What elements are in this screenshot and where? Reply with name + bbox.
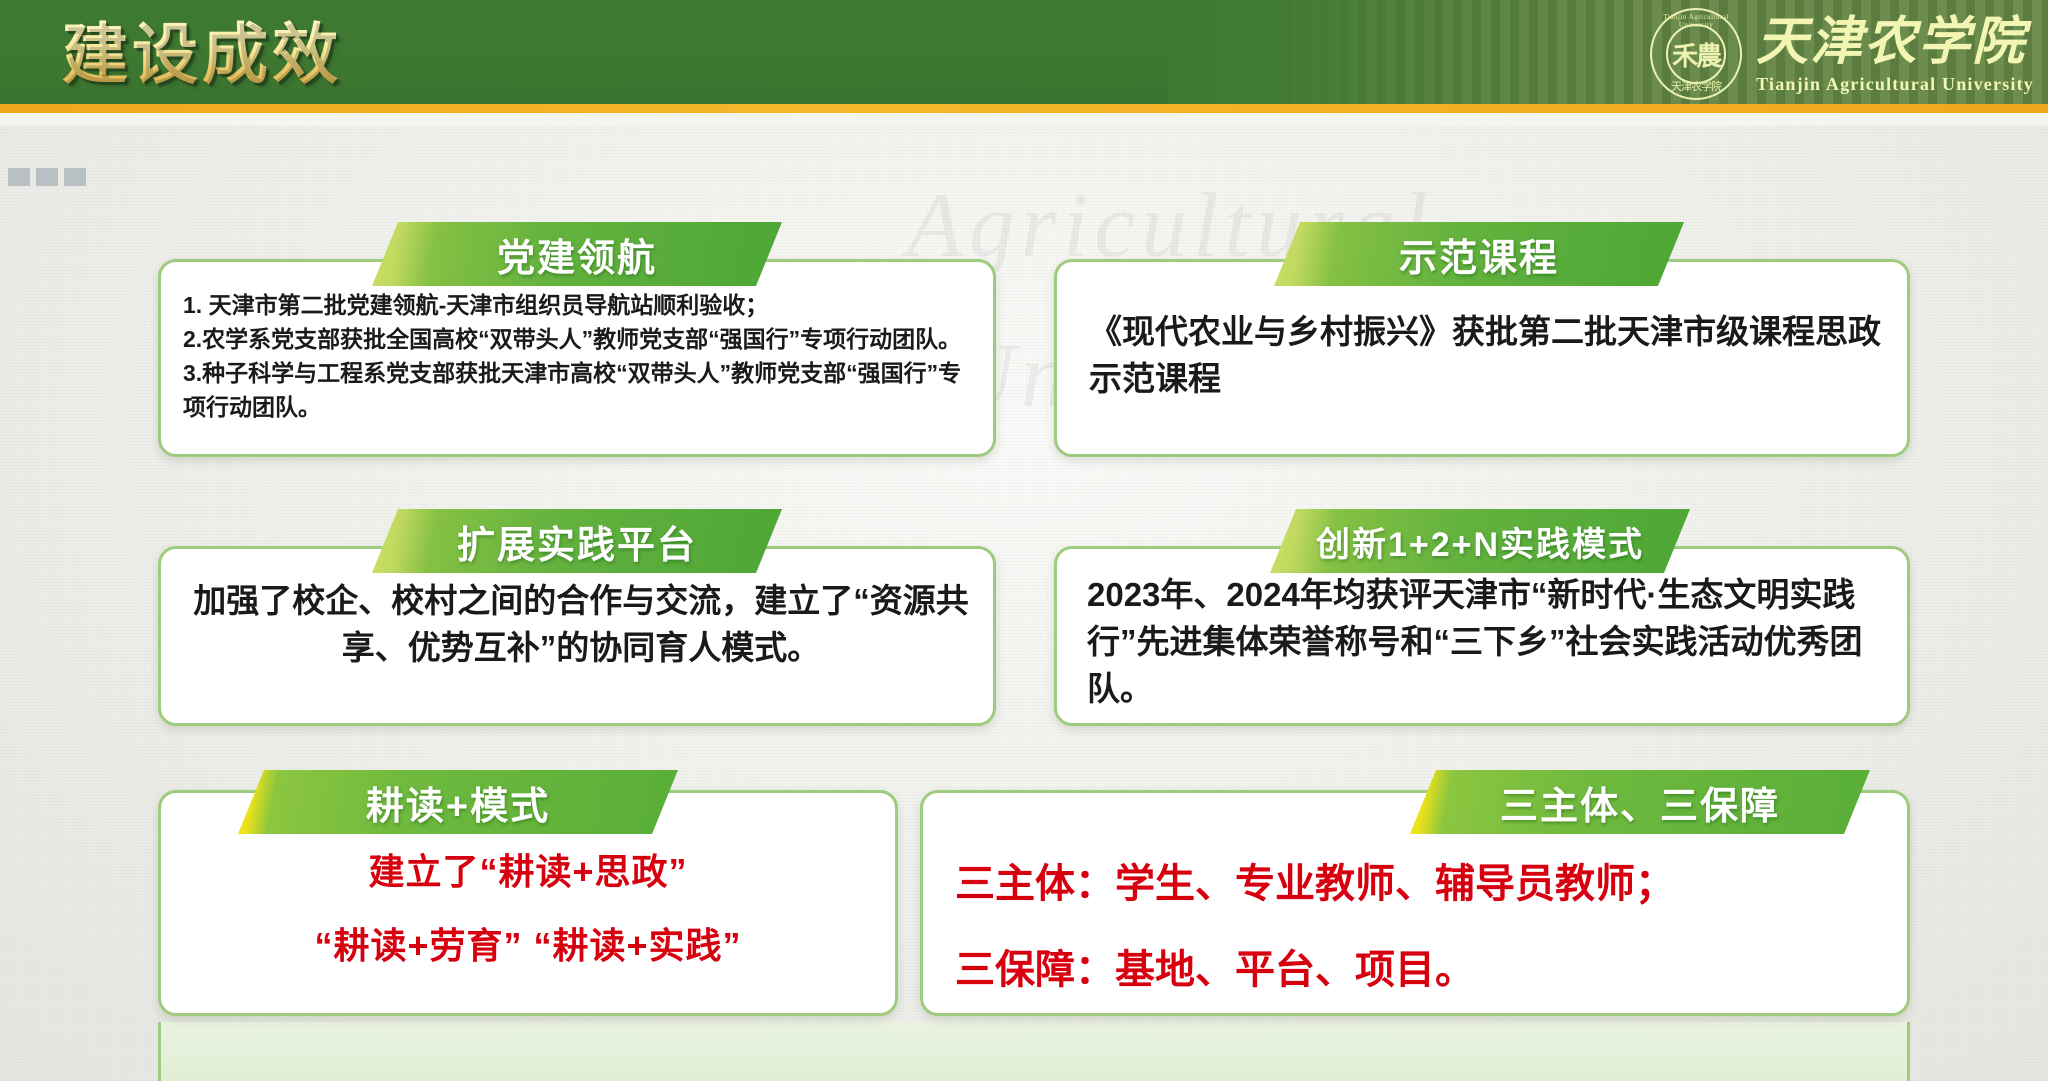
university-logo: Tianjin Agricultural University 禾農 天津农学院… <box>1650 6 2034 102</box>
seal-bottom-text: 天津农学院 <box>1652 78 1740 94</box>
ribbon-practice-platform: 扩展实践平台 <box>372 509 782 573</box>
card1-line-1: 1. 天津市第二批党建领航-天津市组织员导航站顺利验收； <box>183 288 979 322</box>
ribbon-three-subjects: 三主体、三保障 <box>1410 770 1870 834</box>
header-under-band <box>0 113 2048 126</box>
card3-body: 加强了校企、校村之间的合作与交流，建立了“资源共享、优势互补”的协同育人模式。 <box>191 577 971 671</box>
decorative-squares <box>8 168 86 186</box>
ribbon-demo-course: 示范课程 <box>1274 222 1684 286</box>
header-accent-bar <box>0 104 2048 113</box>
ribbon-innovation-model: 创新1+2+N实践模式 <box>1270 509 1690 573</box>
card2-body: 《现代农业与乡村振兴》获批第二批天津市级课程思政示范课程 <box>1089 308 1883 402</box>
card1-line-2: 2.农学系党支部获批全国高校“双带头人”教师党支部“强国行”专项行动团队。 <box>183 322 979 356</box>
card5-body: 建立了“耕读+思政” “耕读+劳育” “耕读+实践” <box>175 835 881 983</box>
card-innovation-model: 2023年、2024年均获评天津市“新时代·生态文明实践行”先进集体荣誉称号和“… <box>1054 546 1910 726</box>
card1-line-3: 3.种子科学与工程系党支部获批天津市高校“双带头人”教师党支部“强国行”专项行动… <box>183 356 979 424</box>
card3-line-1: 加强了校企、校村之间的合作与交流，建立了“资源共享、优势互补”的协同育人模式。 <box>191 577 971 671</box>
logo-name-cn: 天津农学院 <box>1756 14 2034 72</box>
card6-body: 三主体：学生、专业教师、辅导员教师； 三保障：基地、平台、项目。 <box>955 841 1887 1013</box>
card4-body: 2023年、2024年均获评天津市“新时代·生态文明实践行”先进集体荣誉称号和“… <box>1087 571 1885 712</box>
slide-root: 建设成效 Tianjin Agricultural University 禾農 … <box>0 0 2048 1081</box>
bottom-panel <box>158 1022 1910 1081</box>
card2-line-1: 《现代农业与乡村振兴》获批第二批天津市级课程思政示范课程 <box>1089 308 1883 402</box>
square-1 <box>8 168 30 186</box>
ribbon-gengdu-model: 耕读+模式 <box>238 770 678 834</box>
square-2 <box>36 168 58 186</box>
card6-line-2: 三保障：基地、平台、项目。 <box>955 927 1887 1013</box>
card6-line-1: 三主体：学生、专业教师、辅导员教师； <box>955 841 1887 927</box>
card5-line-1: 建立了“耕读+思政” <box>175 835 881 909</box>
logo-name-en: Tianjin Agricultural University <box>1756 74 2034 95</box>
card-party-building: 1. 天津市第二批党建领航-天津市组织员导航站顺利验收； 2.农学系党支部获批全… <box>158 259 996 457</box>
card1-body: 1. 天津市第二批党建领航-天津市组织员导航站顺利验收； 2.农学系党支部获批全… <box>183 288 979 424</box>
page-title: 建设成效 <box>62 14 342 94</box>
card5-line-2: “耕读+劳育” “耕读+实践” <box>175 909 881 983</box>
card-demo-course: 《现代农业与乡村振兴》获批第二批天津市级课程思政示范课程 <box>1054 259 1910 457</box>
logo-names: 天津农学院 Tianjin Agricultural University <box>1756 14 2034 95</box>
card4-line-1: 2023年、2024年均获评天津市“新时代·生态文明实践行”先进集体荣誉称号和“… <box>1087 571 1885 712</box>
university-seal-icon: Tianjin Agricultural University 禾農 天津农学院 <box>1650 8 1742 100</box>
square-3 <box>64 168 86 186</box>
ribbon-party-building: 党建领航 <box>372 222 782 286</box>
card-practice-platform: 加强了校企、校村之间的合作与交流，建立了“资源共享、优势互补”的协同育人模式。 <box>158 546 996 726</box>
